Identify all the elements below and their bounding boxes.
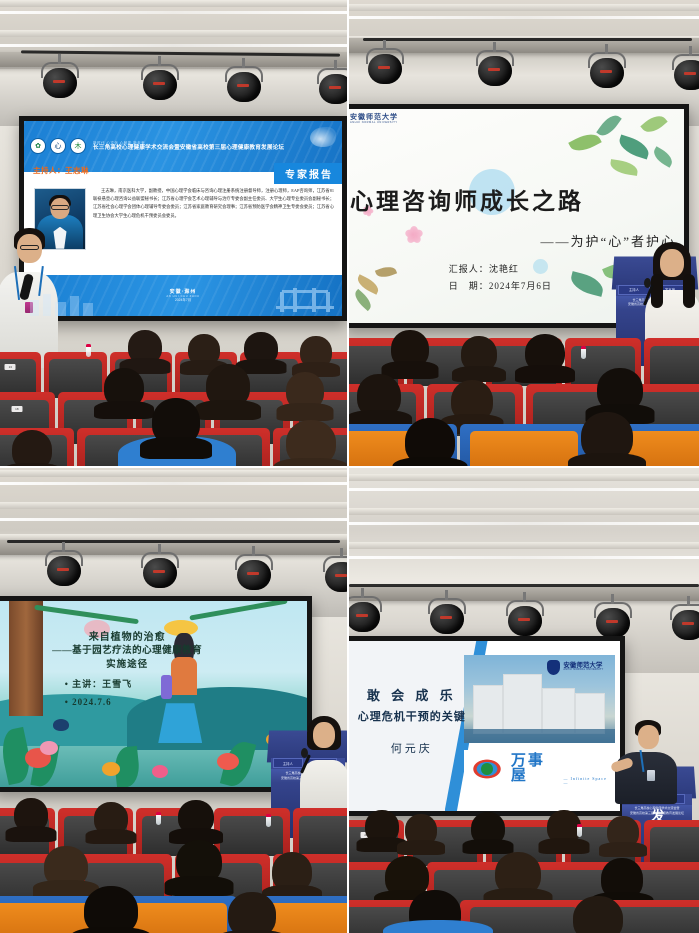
host-label: 主持人：王志琳 (33, 165, 89, 176)
projection-screen: 来自植物的治愈 ——基于园艺疗法的心理健康教育 实施途径 主讲：王雪飞 2024… (0, 596, 312, 792)
water-bottle (86, 344, 91, 357)
stage-light-icon (365, 46, 405, 86)
cable (349, 584, 699, 587)
microphone-head-icon (644, 278, 651, 288)
audience-head (176, 840, 222, 884)
audience-head (286, 372, 324, 410)
illustration-bird (53, 719, 69, 731)
logo-subtext: — Infinite Space — (564, 777, 611, 785)
university-name-en: ANHUI NORMAL UNIVERSITY (563, 669, 603, 672)
seat (293, 808, 350, 856)
audience-head (495, 852, 541, 896)
audience-head (573, 896, 623, 933)
stage-light-icon (44, 548, 84, 588)
emblem-icon-2: 心 (50, 138, 66, 154)
presenter-name: 沈艳红 (489, 264, 519, 274)
audience-head (607, 816, 639, 848)
slide-text-block: 来自植物的治愈 ——基于园艺疗法的心理健康教育 实施途径 主讲：王雪飞 2024… (40, 631, 214, 709)
seat (644, 338, 699, 386)
audience-head (14, 798, 48, 832)
audience-head (84, 886, 138, 933)
stage-light-icon (316, 66, 349, 106)
stage-light-icon (322, 554, 349, 594)
archway-icon (276, 288, 334, 314)
audience-head (391, 330, 429, 368)
slide-plant-healing: 来自植物的治愈 ——基于园艺疗法的心理健康教育 实施途径 主讲：王雪飞 2024… (0, 601, 307, 787)
audience-head (286, 420, 336, 466)
stage-light-icon (140, 62, 180, 102)
stage-light-icon (427, 596, 467, 636)
audience-head (357, 374, 401, 418)
water-bottle (266, 814, 271, 827)
tree-trunk (9, 601, 43, 716)
glasses-icon (20, 245, 39, 250)
city-skyline-icon (28, 290, 98, 316)
seat (644, 820, 699, 866)
stage-light-icon (593, 600, 633, 640)
bird-watermark-icon (310, 127, 336, 147)
stage-light-icon (224, 64, 264, 104)
audience-head (228, 892, 276, 933)
emblem-icon-1: ✿ (30, 138, 46, 154)
leaf-decoration (350, 259, 430, 319)
footer-date: 2024年7月 (166, 298, 199, 302)
cable (363, 38, 692, 41)
cable (7, 540, 340, 543)
water-bottle (581, 346, 586, 359)
audience-head (178, 800, 214, 834)
audience-head (44, 846, 88, 888)
audience-head (471, 812, 505, 845)
water-bottle (156, 812, 161, 825)
stage-light-icon (671, 52, 699, 92)
slide-body: 主持人：王志琳 专家报告 王志琳，南京医科大学，副教授，中国心理学会临床与咨询心… (24, 172, 342, 275)
audience-head (461, 336, 497, 372)
stage-light-icon (140, 550, 180, 590)
slide-title: 心理咨询师成长之路 (350, 182, 584, 216)
stage-light-icon (475, 48, 515, 88)
slide-title: 来自植物的治愈 (40, 631, 214, 646)
logo-text: 万事屋 (511, 754, 559, 784)
audience-head (405, 814, 437, 846)
eye-logo-icon (468, 756, 506, 782)
audience-head (365, 810, 399, 843)
stage-light-icon (234, 552, 274, 592)
collage-panel-bottom-left[interactable]: 来自植物的治愈 ——基于园艺疗法的心理健康教育 实施途径 主讲：王雪飞 2024… (0, 466, 349, 933)
standing-presenter (615, 720, 677, 802)
seat-number: 18 (11, 406, 22, 412)
water-bottle (577, 824, 582, 837)
presenter-name: 何元庆 (354, 740, 469, 756)
slide-crisis-intervention: 安徽师范大学 ANHUI NORMAL UNIVERSITY 万事屋 — Inf… (349, 641, 620, 811)
projection-screen: ✿ 心 木 新时代 心文化 心赋能 新未来 长三角高校心理健康学术交流会暨安徽省… (19, 116, 347, 321)
collage-panel-top-right[interactable]: 安徽师范大学 ANHUI NORMAL UNIVERSITY (349, 0, 699, 466)
host-biography: 王志琳，南京医科大学，副教授，中国心理学会临床与咨询心理注册系统注册督导师，注册… (93, 183, 334, 271)
date-value: 2024年7月6日 (489, 281, 552, 291)
podium-tag-left: 主持人 (273, 758, 303, 768)
slide-bullet-date: 2024.7.6 (40, 696, 214, 709)
name-badge (647, 770, 655, 781)
audience-head (525, 334, 565, 372)
audience-head (547, 810, 581, 844)
emblem-icon-3: 木 (70, 138, 86, 154)
sakura-icon (404, 225, 424, 245)
seat-number: 13 (5, 364, 16, 370)
slide-subtitle-line2: 实施途径 (40, 659, 214, 673)
stage-light-icon (40, 60, 80, 100)
organization-logo-bar: 万事屋 — Infinite Space — (464, 750, 615, 787)
audience-head (206, 364, 250, 408)
university-name-en: ANHUI NORMAL UNIVERSITY (350, 122, 398, 125)
stage-light-icon (587, 50, 627, 90)
stage-light-icon (505, 598, 545, 638)
date-label: 日 期： (449, 281, 489, 291)
seat-row (0, 896, 349, 933)
projection-screen: 安徽师范大学 ANHUI NORMAL UNIVERSITY 万事屋 — Inf… (349, 636, 625, 816)
collage-panel-top-left[interactable]: ✿ 心 木 新时代 心文化 心赋能 新未来 长三角高校心理健康学术交流会暨安徽省… (0, 0, 349, 466)
audience-head (188, 334, 220, 366)
audience-head (272, 852, 312, 892)
audience-head (152, 398, 200, 446)
audience-head (244, 332, 278, 365)
audience-head (597, 368, 643, 412)
slide-expert-report: ✿ 心 木 新时代 心文化 心赋能 新未来 长三角高校心理健康学术交流会暨安徽省… (24, 121, 342, 316)
footer-city-cn: 安徽·滁州 (166, 289, 199, 295)
audience-head (94, 802, 128, 835)
seat (214, 808, 289, 856)
audience-head (601, 858, 643, 900)
crest-icon (547, 660, 560, 675)
university-mark: 安徽师范大学 ANHUI NORMAL UNIVERSITY (547, 660, 603, 675)
audience-head (128, 330, 162, 364)
audience-head (405, 418, 455, 466)
slide-footer: 安徽·滁州 AN HUI·CHU ZHOU 2024年7月 (24, 275, 342, 316)
slide-subtitle: 心理危机干预的关键 (354, 708, 469, 724)
audience-head (300, 336, 332, 368)
slide-header-title: 长三角高校心理健康学术交流会暨安徽省高校第三届心理健康教育发展论坛 (93, 145, 284, 151)
slide-bullet-presenter: 主讲：王雪飞 (40, 678, 214, 691)
photo-collage: ✿ 心 木 新时代 心文化 心赋能 新未来 长三角高校心理健康学术交流会暨安徽省… (0, 0, 699, 933)
stage-light-icon (669, 602, 699, 642)
collage-panel-bottom-right[interactable]: 安徽师范大学 ANHUI NORMAL UNIVERSITY 万事屋 — Inf… (349, 466, 699, 933)
audience-head (581, 412, 633, 462)
stage-light-icon (349, 594, 383, 634)
presenter-label: 汇报人： (449, 264, 489, 274)
audience-head (12, 430, 52, 466)
slide-text-block: 敢 会 成 乐 心理危机干预的关键 何元庆 (354, 685, 469, 756)
audience-head (451, 380, 493, 422)
audience-head (104, 368, 144, 408)
slide-title: 敢 会 成 乐 (354, 685, 469, 704)
audience-shoulders (383, 920, 493, 933)
slide-subtitle-line1: ——基于园艺疗法的心理健康教育 (40, 645, 214, 659)
microphone-head-icon (301, 748, 308, 758)
slide-meta: 汇报人：沈艳红 日 期：2024年7月6日 (449, 261, 552, 295)
expert-report-badge: 专家报告 (274, 163, 342, 184)
university-logo: 安徽师范大学 ANHUI NORMAL UNIVERSITY (350, 114, 398, 125)
